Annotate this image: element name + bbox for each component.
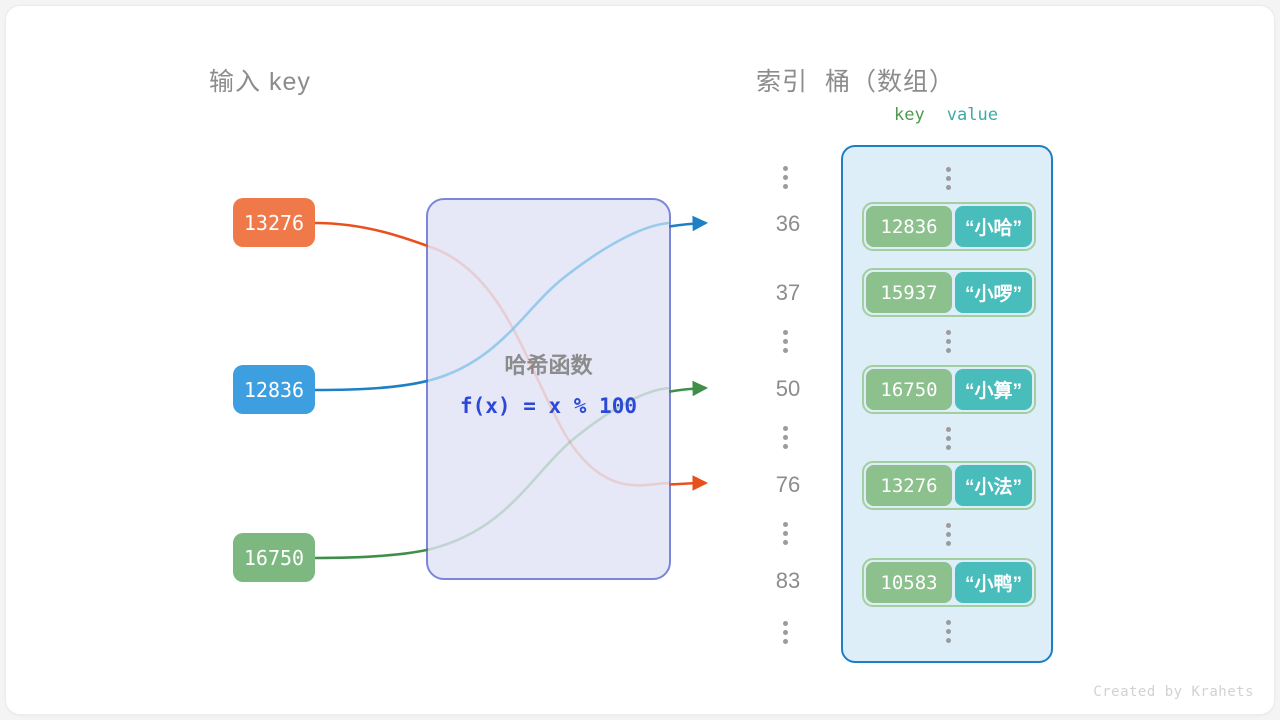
index-label: 83 [766, 568, 810, 594]
bucket-key-label: key [894, 105, 925, 125]
bucket-array: 12836 “小哈” 15937 “小啰” 16750 “小算” 13276 “… [841, 145, 1053, 663]
hash-function-title: 哈希函数 [428, 348, 669, 380]
bucket-entry: 13276 “小法” [862, 461, 1036, 510]
credit-text: Created by Krahets [1093, 684, 1254, 700]
entry-value: “小鸭” [955, 562, 1032, 603]
entry-key: 15937 [866, 272, 952, 313]
input-column-heading: 输入 key [209, 62, 311, 98]
entry-key: 16750 [866, 369, 952, 410]
entry-key: 12836 [866, 206, 952, 247]
input-key-chip: 12836 [233, 365, 315, 414]
bucket-entry: 15937 “小啰” [862, 268, 1036, 317]
bucket-entry: 16750 “小算” [862, 365, 1036, 414]
index-ellipsis [778, 330, 792, 353]
input-key-chip: 16750 [233, 533, 315, 582]
index-ellipsis [778, 166, 792, 189]
entry-value: “小算” [955, 369, 1032, 410]
diagram-card: 输入 key 索引 桶（数组） keyvalue 哈希函数 f(x) = x %… [6, 6, 1274, 714]
index-ellipsis [778, 426, 792, 449]
bucket-entry: 12836 “小哈” [862, 202, 1036, 251]
bucket-ellipsis [941, 330, 955, 353]
index-label: 36 [766, 211, 810, 237]
bucket-ellipsis [941, 427, 955, 450]
entry-key: 10583 [866, 562, 952, 603]
entry-key: 13276 [866, 465, 952, 506]
bucket-entry: 10583 “小鸭” [862, 558, 1036, 607]
bucket-ellipsis [941, 620, 955, 643]
entry-value: “小啰” [955, 272, 1032, 313]
input-key-chip: 13276 [233, 198, 315, 247]
hash-function-box: 哈希函数 f(x) = x % 100 [426, 198, 671, 580]
index-label: 50 [766, 376, 810, 402]
diagram-canvas: 输入 key 索引 桶（数组） keyvalue 哈希函数 f(x) = x %… [0, 0, 1280, 720]
index-ellipsis [778, 621, 792, 644]
entry-value: “小法” [955, 465, 1032, 506]
bucket-ellipsis [941, 167, 955, 190]
index-column-heading: 索引 [756, 62, 808, 98]
bucket-subheading: keyvalue [894, 105, 998, 125]
bucket-value-label: value [947, 105, 998, 125]
entry-value: “小哈” [955, 206, 1032, 247]
index-ellipsis [778, 522, 792, 545]
bucket-column-heading: 桶（数组） [825, 62, 955, 98]
bucket-ellipsis [941, 523, 955, 546]
index-label: 37 [766, 280, 810, 306]
hash-function-formula: f(x) = x % 100 [428, 394, 669, 418]
index-label: 76 [766, 472, 810, 498]
